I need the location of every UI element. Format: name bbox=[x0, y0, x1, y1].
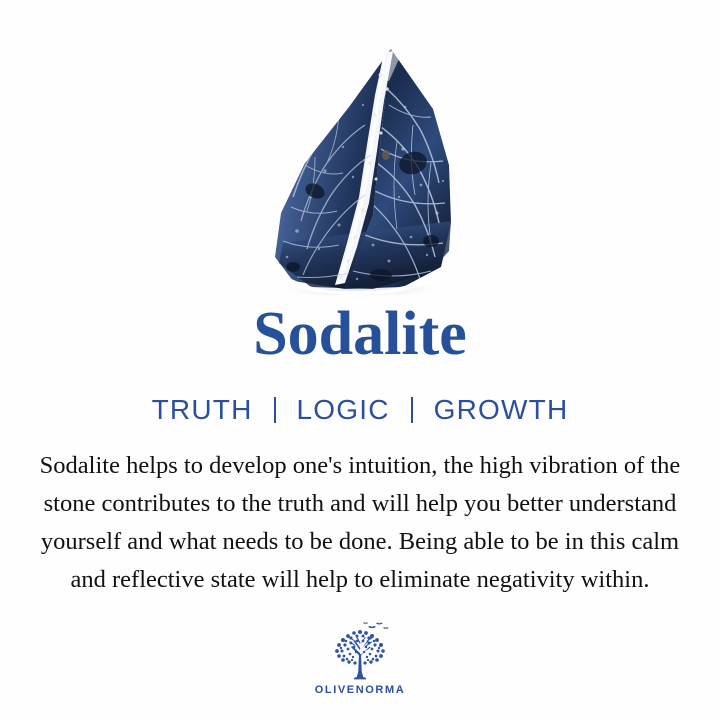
olive-tree-icon bbox=[318, 620, 402, 682]
crystal-image-container bbox=[0, 40, 720, 295]
keyword-growth: GROWTH bbox=[434, 394, 569, 426]
page-title: Sodalite bbox=[0, 302, 720, 367]
sodalite-info-card: Sodalite TRUTHLOGICGROWTH Sodalite helps… bbox=[0, 0, 720, 720]
keyword-list: TRUTHLOGICGROWTH bbox=[0, 394, 720, 426]
brand-wordmark: OLIVENORMA bbox=[315, 684, 406, 696]
keyword-separator-1 bbox=[274, 397, 276, 423]
description-text: Sodalite helps to develop one's intuitio… bbox=[22, 447, 698, 599]
keyword-logic: LOGIC bbox=[297, 394, 390, 426]
brand-logo: OLIVENORMA bbox=[0, 620, 720, 696]
keyword-truth: TRUTH bbox=[152, 394, 253, 426]
birds-icon bbox=[363, 622, 389, 628]
sodalite-crystal-image bbox=[253, 45, 468, 295]
keyword-separator-2 bbox=[411, 397, 413, 423]
